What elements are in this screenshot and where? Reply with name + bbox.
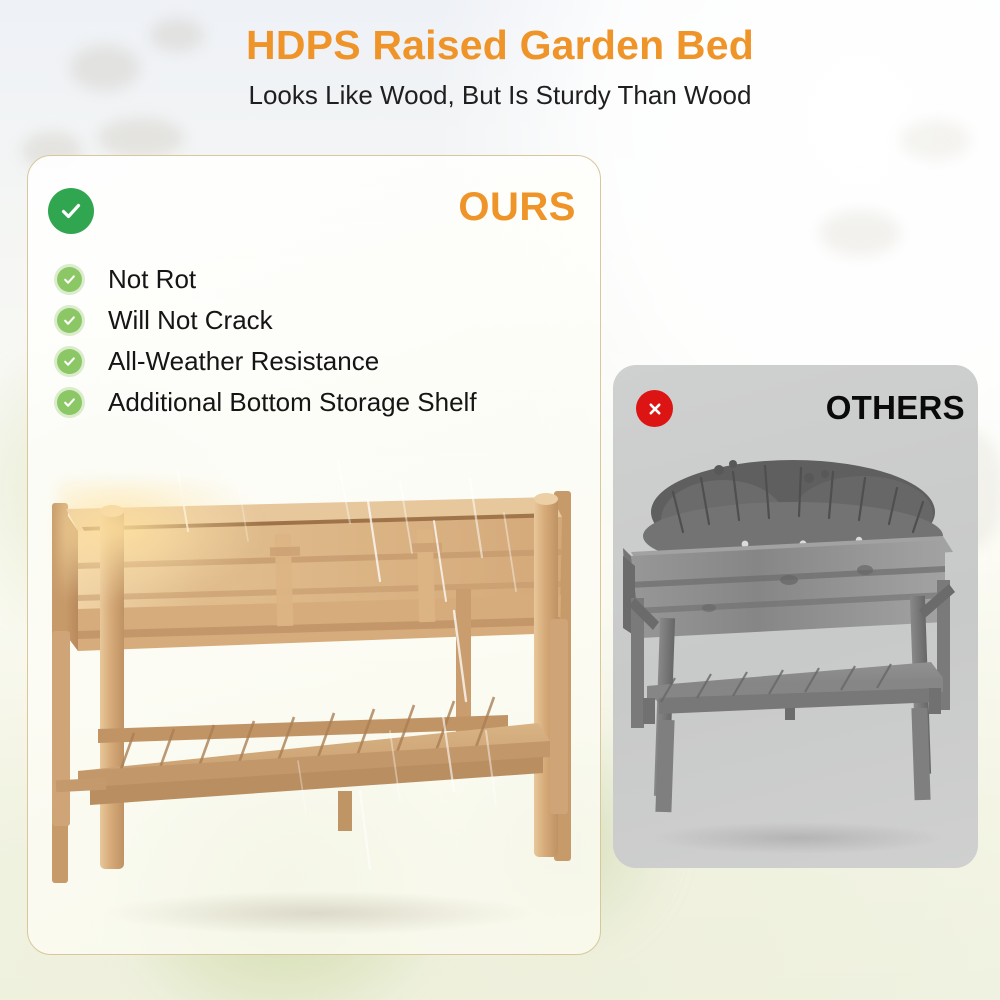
feature-label: Additional Bottom Storage Shelf [108, 387, 477, 418]
page-title: HDPS Raised Garden Bed [0, 22, 1000, 69]
list-item: Additional Bottom Storage Shelf [57, 382, 577, 423]
check-icon [57, 267, 82, 292]
weathered-planter-illustration [613, 440, 978, 860]
header: HDPS Raised Garden Bed Looks Like Wood, … [0, 0, 1000, 111]
list-item: Not Rot [57, 259, 577, 300]
ours-label: OURS [458, 185, 576, 230]
light-glow-highlight [58, 481, 258, 601]
feature-label: All-Weather Resistance [108, 346, 379, 377]
list-item: Will Not Crack [57, 300, 577, 341]
feature-label: Not Rot [108, 264, 196, 295]
list-item: All-Weather Resistance [57, 341, 577, 382]
check-icon [57, 349, 82, 374]
ours-feature-list: Not Rot Will Not Crack All-Weather Resis… [57, 259, 577, 423]
background-speck [900, 120, 970, 160]
page-subtitle: Looks Like Wood, But Is Sturdy Than Wood [0, 80, 1000, 111]
check-icon [57, 308, 82, 333]
others-label: OTHERS [826, 389, 965, 427]
check-icon [57, 390, 82, 415]
feature-label: Will Not Crack [108, 305, 273, 336]
ours-product-image [38, 461, 598, 941]
others-x-badge [636, 390, 673, 427]
background-speck [98, 118, 184, 158]
x-circle-icon [645, 399, 665, 419]
ours-panel: OURS Not Rot Will Not Crack All-Weather … [27, 155, 601, 955]
background-speck [820, 210, 900, 256]
others-panel: OTHERS [613, 365, 978, 868]
others-product-image [613, 440, 978, 860]
check-circle-icon [58, 198, 84, 224]
ours-check-badge [48, 188, 94, 234]
